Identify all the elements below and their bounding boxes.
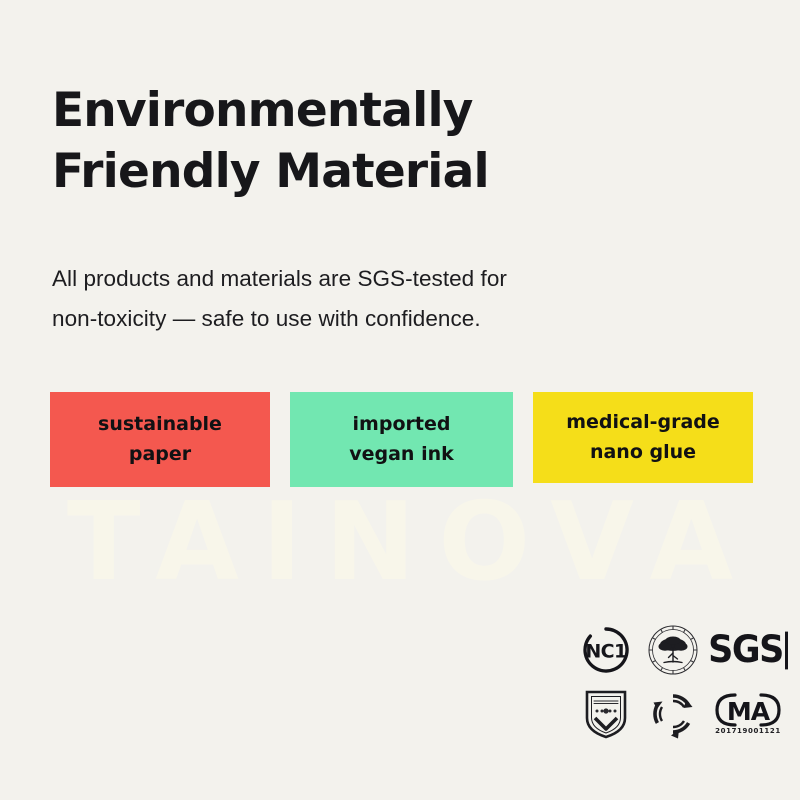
- sgs-icon: SGS: [709, 620, 787, 680]
- material-card-medical-grade-nano-glue: medical-grade nano glue: [533, 392, 753, 483]
- tree-seal-icon: [642, 620, 704, 680]
- shield-icon: [575, 684, 637, 744]
- material-card-line-1: sustainable: [98, 410, 222, 439]
- material-card-list: sustainable paper imported vegan ink med…: [50, 392, 753, 488]
- brand-watermark: TAINOVA: [0, 488, 800, 598]
- nc1-icon: NC1: [575, 620, 637, 680]
- svg-text:NC1: NC1: [585, 641, 626, 663]
- material-card-line-1: imported: [353, 410, 451, 439]
- material-card-line-2: nano glue: [590, 438, 696, 467]
- material-card-line-1: medical-grade: [566, 408, 720, 437]
- sgs-label: SGS: [708, 631, 788, 669]
- page-title: Environmentally Friendly Material: [52, 81, 732, 201]
- page-subtitle: All products and materials are SGS-teste…: [52, 259, 652, 339]
- page-title-line-1: Environmentally: [52, 81, 732, 141]
- material-card-line-2: vegan ink: [349, 440, 454, 469]
- page-subtitle-line-2: non-toxicity — safe to use with confiden…: [52, 299, 652, 339]
- page-title-line-2: Friendly Material: [52, 142, 732, 202]
- cma-icon: MA 201719001121: [709, 684, 787, 744]
- poster-canvas: TAINOVA Environmentally Friendly Materia…: [0, 0, 800, 800]
- material-card-line-2: paper: [129, 440, 191, 469]
- material-card-sustainable-paper: sustainable paper: [50, 392, 270, 487]
- certification-badge-grid: NC1: [575, 620, 787, 744]
- page-subtitle-line-1: All products and materials are SGS-teste…: [52, 259, 652, 299]
- cma-certificate-number: 201719001121: [715, 728, 781, 735]
- material-card-imported-vegan-ink: imported vegan ink: [290, 392, 513, 487]
- svg-text:MA: MA: [727, 697, 771, 726]
- recycling-icon: [642, 684, 704, 744]
